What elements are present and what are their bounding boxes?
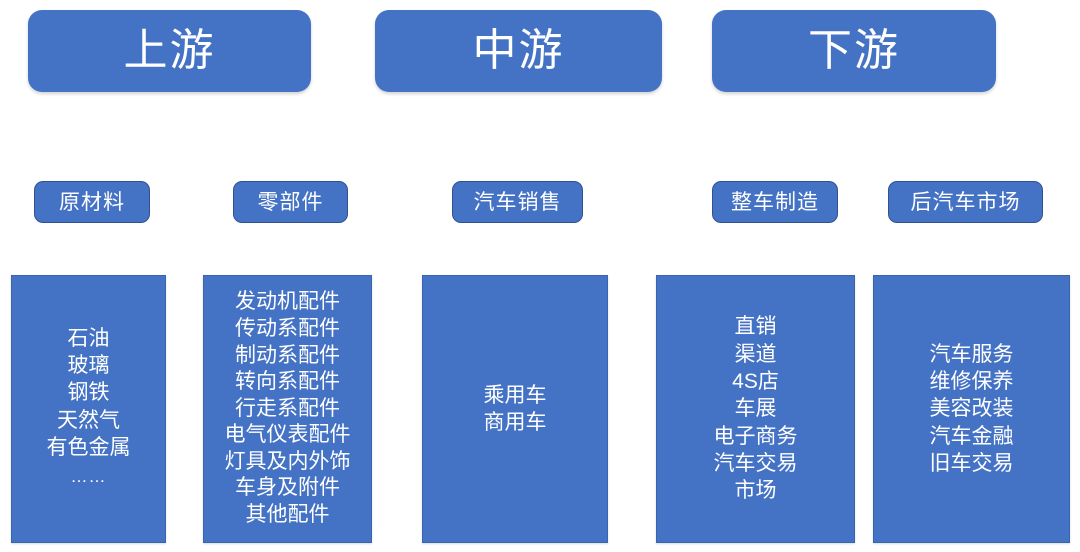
segment-pill-1[interactable]: 原材料 [34,181,150,223]
segment-pill-5[interactable]: 后汽车市场 [888,181,1043,223]
stage-button-2[interactable]: 中游 [375,10,662,92]
stage-button-1[interactable]: 上游 [28,10,311,92]
content-item: 商用车 [484,409,547,436]
content-box-5: 汽车服务维修保养美容改装汽车金融旧车交易 [873,275,1070,543]
content-item: 石油 [68,325,110,352]
segment-pill-3[interactable]: 汽车销售 [452,181,583,223]
content-item: 玻璃 [68,352,110,379]
content-item: 电气仪表配件 [225,422,351,449]
content-box-3: 乘用车商用车 [422,275,608,543]
content-item: 汽车交易 [714,450,798,477]
content-item: 传动系配件 [235,316,340,343]
content-item: 车展 [735,395,777,422]
content-item: 直销 [735,313,777,340]
content-item: 有色金属 [47,434,131,461]
content-item: 乘用车 [484,382,547,409]
stage-button-3[interactable]: 下游 [712,10,996,92]
content-item: 4S店 [732,368,779,395]
content-item: …… [71,461,107,493]
content-item: 车身及附件 [235,475,340,502]
content-item: 天然气 [57,407,120,434]
content-item: 其他配件 [246,502,330,529]
content-box-4: 直销渠道4S店车展电子商务汽车交易市场 [656,275,855,543]
content-box-2: 发动机配件传动系配件制动系配件转向系配件行走系配件电气仪表配件灯具及内外饰车身及… [203,275,372,543]
content-item: 汽车金融 [930,423,1014,450]
content-item: 旧车交易 [930,450,1014,477]
content-item: 市场 [735,477,777,504]
content-item: 钢铁 [68,379,110,406]
content-item: 汽车服务 [930,341,1014,368]
content-item: 发动机配件 [235,289,340,316]
diagram-canvas: 上游中游下游 原材料零部件汽车销售整车制造后汽车市场 石油玻璃钢铁天然气有色金属… [0,0,1080,552]
content-item: 灯具及内外饰 [225,449,351,476]
content-item: 美容改装 [930,395,1014,422]
content-item: 制动系配件 [235,343,340,370]
content-item: 转向系配件 [235,369,340,396]
content-item: 电子商务 [714,423,798,450]
content-item: 维修保养 [930,368,1014,395]
segment-pill-4[interactable]: 整车制造 [712,181,838,223]
segment-pill-2[interactable]: 零部件 [233,181,348,223]
content-box-1: 石油玻璃钢铁天然气有色金属…… [11,275,166,543]
content-item: 行走系配件 [235,396,340,423]
content-item: 渠道 [735,341,777,368]
